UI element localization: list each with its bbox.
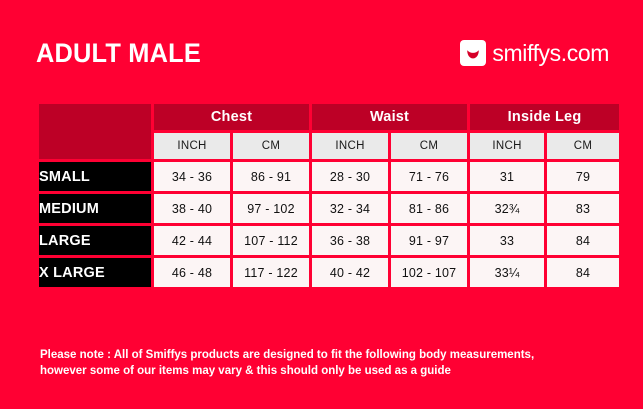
table-row: MEDIUM 38 - 40 97 - 102 32 - 34 81 - 86 …: [39, 194, 619, 223]
row-label-small: SMALL: [39, 162, 151, 191]
cell-large-waist-cm: 91 - 97: [391, 226, 467, 255]
column-group-waist: Waist: [312, 104, 467, 130]
size-table-container: Chest Waist Inside Leg INCH CM INCH CM I…: [36, 101, 608, 290]
cell-large-chest-cm: 107 - 112: [233, 226, 309, 255]
table-group-header-row: Chest Waist Inside Leg: [39, 104, 619, 130]
row-label-x-large: X LARGE: [39, 258, 151, 287]
row-label-large: LARGE: [39, 226, 151, 255]
cell-medium-inside-leg-inch: 32¾: [470, 194, 544, 223]
cell-large-waist-inch: 36 - 38: [312, 226, 388, 255]
unit-header-inside-leg-inch: INCH: [470, 133, 544, 159]
cell-small-chest-cm: 86 - 91: [233, 162, 309, 191]
disclaimer-line-1: Please note : All of Smiffys products ar…: [40, 348, 600, 364]
cell-x-large-chest-cm: 117 - 122: [233, 258, 309, 287]
brand-name: smiffys.com: [492, 42, 609, 65]
unit-header-chest-cm: CM: [233, 133, 309, 159]
cell-small-waist-inch: 28 - 30: [312, 162, 388, 191]
cell-small-inside-leg-inch: 31: [470, 162, 544, 191]
unit-header-waist-inch: INCH: [312, 133, 388, 159]
size-chart-page: ADULT MALE smiffys.com Chest Wai: [0, 0, 643, 409]
cell-x-large-inside-leg-cm: 84: [547, 258, 619, 287]
page-header: ADULT MALE smiffys.com: [36, 30, 609, 76]
unit-header-inside-leg-cm: CM: [547, 133, 619, 159]
table-row: X LARGE 46 - 48 117 - 122 40 - 42 102 - …: [39, 258, 619, 287]
cell-small-waist-cm: 71 - 76: [391, 162, 467, 191]
table-row: SMALL 34 - 36 86 - 91 28 - 30 71 - 76 31…: [39, 162, 619, 191]
column-group-chest: Chest: [154, 104, 309, 130]
unit-header-waist-cm: CM: [391, 133, 467, 159]
cell-large-inside-leg-inch: 33: [470, 226, 544, 255]
smile-check-icon: [460, 40, 486, 66]
cell-medium-chest-cm: 97 - 102: [233, 194, 309, 223]
cell-large-inside-leg-cm: 84: [547, 226, 619, 255]
brand-logo: smiffys.com: [460, 40, 609, 66]
page-title: ADULT MALE: [36, 40, 201, 67]
cell-x-large-waist-inch: 40 - 42: [312, 258, 388, 287]
cell-small-chest-inch: 34 - 36: [154, 162, 230, 191]
disclaimer-line-2: however some of our items may vary & thi…: [40, 364, 600, 380]
cell-medium-waist-cm: 81 - 86: [391, 194, 467, 223]
unit-header-chest-inch: INCH: [154, 133, 230, 159]
cell-medium-chest-inch: 38 - 40: [154, 194, 230, 223]
cell-medium-inside-leg-cm: 83: [547, 194, 619, 223]
cell-x-large-inside-leg-inch: 33¼: [470, 258, 544, 287]
disclaimer-note: Please note : All of Smiffys products ar…: [40, 348, 600, 379]
row-label-medium: MEDIUM: [39, 194, 151, 223]
cell-x-large-chest-inch: 46 - 48: [154, 258, 230, 287]
cell-large-chest-inch: 42 - 44: [154, 226, 230, 255]
size-table: Chest Waist Inside Leg INCH CM INCH CM I…: [36, 101, 622, 290]
cell-medium-waist-inch: 32 - 34: [312, 194, 388, 223]
table-corner-cell: [39, 104, 151, 159]
table-row: LARGE 42 - 44 107 - 112 36 - 38 91 - 97 …: [39, 226, 619, 255]
cell-small-inside-leg-cm: 79: [547, 162, 619, 191]
cell-x-large-waist-cm: 102 - 107: [391, 258, 467, 287]
column-group-inside-leg: Inside Leg: [470, 104, 619, 130]
